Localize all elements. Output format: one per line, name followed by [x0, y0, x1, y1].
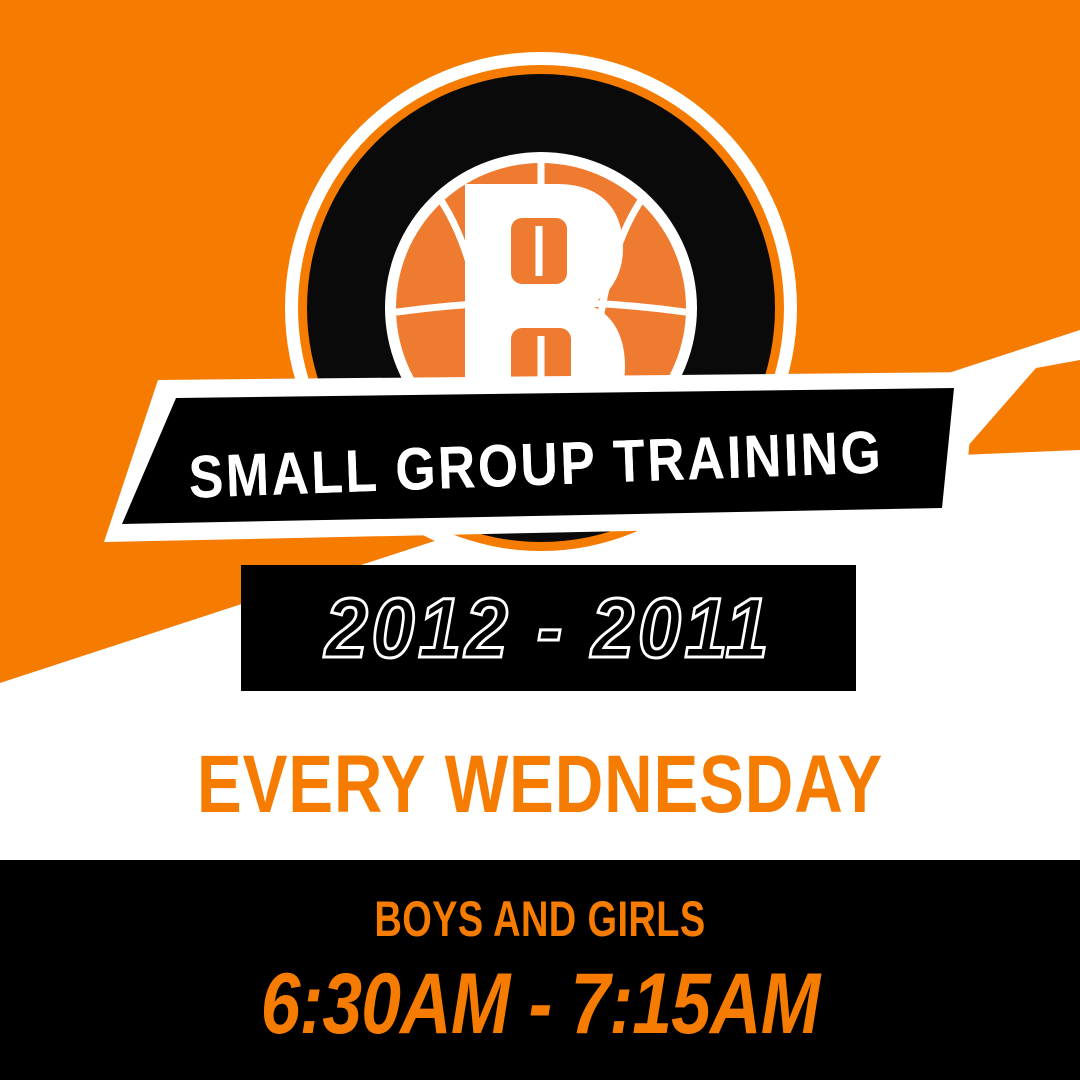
audience-label: BOYS AND GIRLS: [130, 890, 951, 948]
banner-ribbon: SMALL GROUP TRAINING: [96, 372, 976, 550]
details-band: BOYS AND GIRLS 6:30AM - 7:15AM: [0, 860, 1080, 1080]
day-label: EVERY WEDNESDAY: [97, 738, 983, 832]
age-group-label: 2012 - 2011: [266, 565, 832, 691]
age-group-box: 2012 - 2011: [241, 565, 856, 691]
time-label: 6:30AM - 7:15AM: [92, 955, 988, 1054]
poster-canvas: SMALL GROUP TRAINING 2012 - 2011 EVERY W…: [0, 0, 1080, 1080]
